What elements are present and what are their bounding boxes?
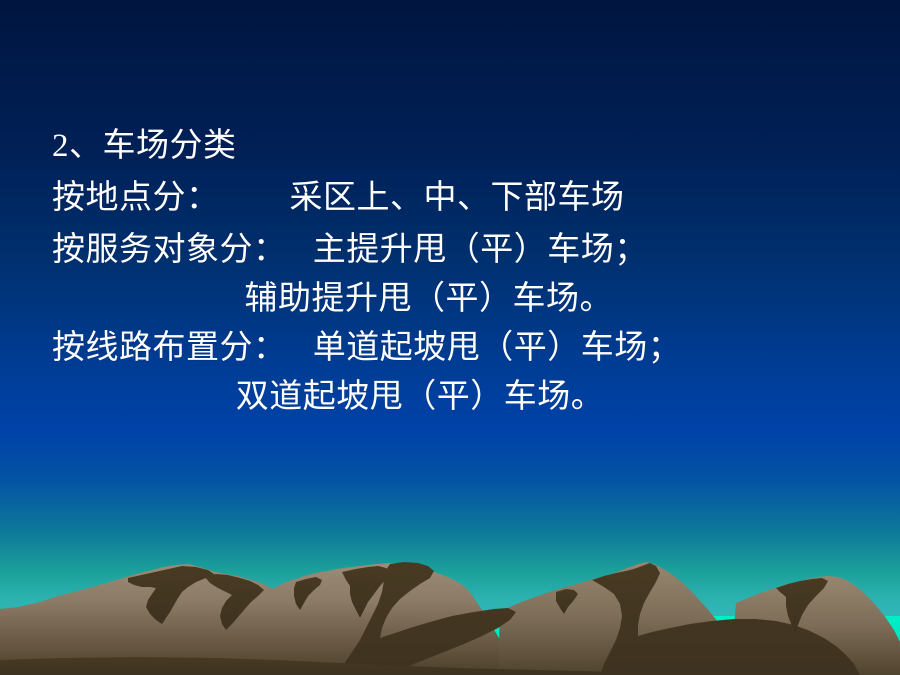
slide-line-heading: 2、车场分类 <box>52 130 237 163</box>
slide-line-by-track-layout: 按线路布置分： 单道起坡甩（平）车场； <box>52 332 681 365</box>
presentation-slide: 2、车场分类 按地点分： 采区上、中、下部车场 按服务对象分： 主提升甩（平）车… <box>0 0 900 675</box>
slide-line-by-service-object-cont: 辅助提升甩（平）车场。 <box>52 283 613 316</box>
slide-line-by-location: 按地点分： 采区上、中、下部车场 <box>52 182 625 215</box>
slide-text-body: 2、车场分类 按地点分： 采区上、中、下部车场 按服务对象分： 主提升甩（平）车… <box>0 0 900 560</box>
mountain-range-silhouette <box>0 560 900 675</box>
slide-line-by-service-object: 按服务对象分： 主提升甩（平）车场； <box>52 234 648 267</box>
slide-line-by-track-layout-cont: 双道起坡甩（平）车场。 <box>52 381 604 414</box>
